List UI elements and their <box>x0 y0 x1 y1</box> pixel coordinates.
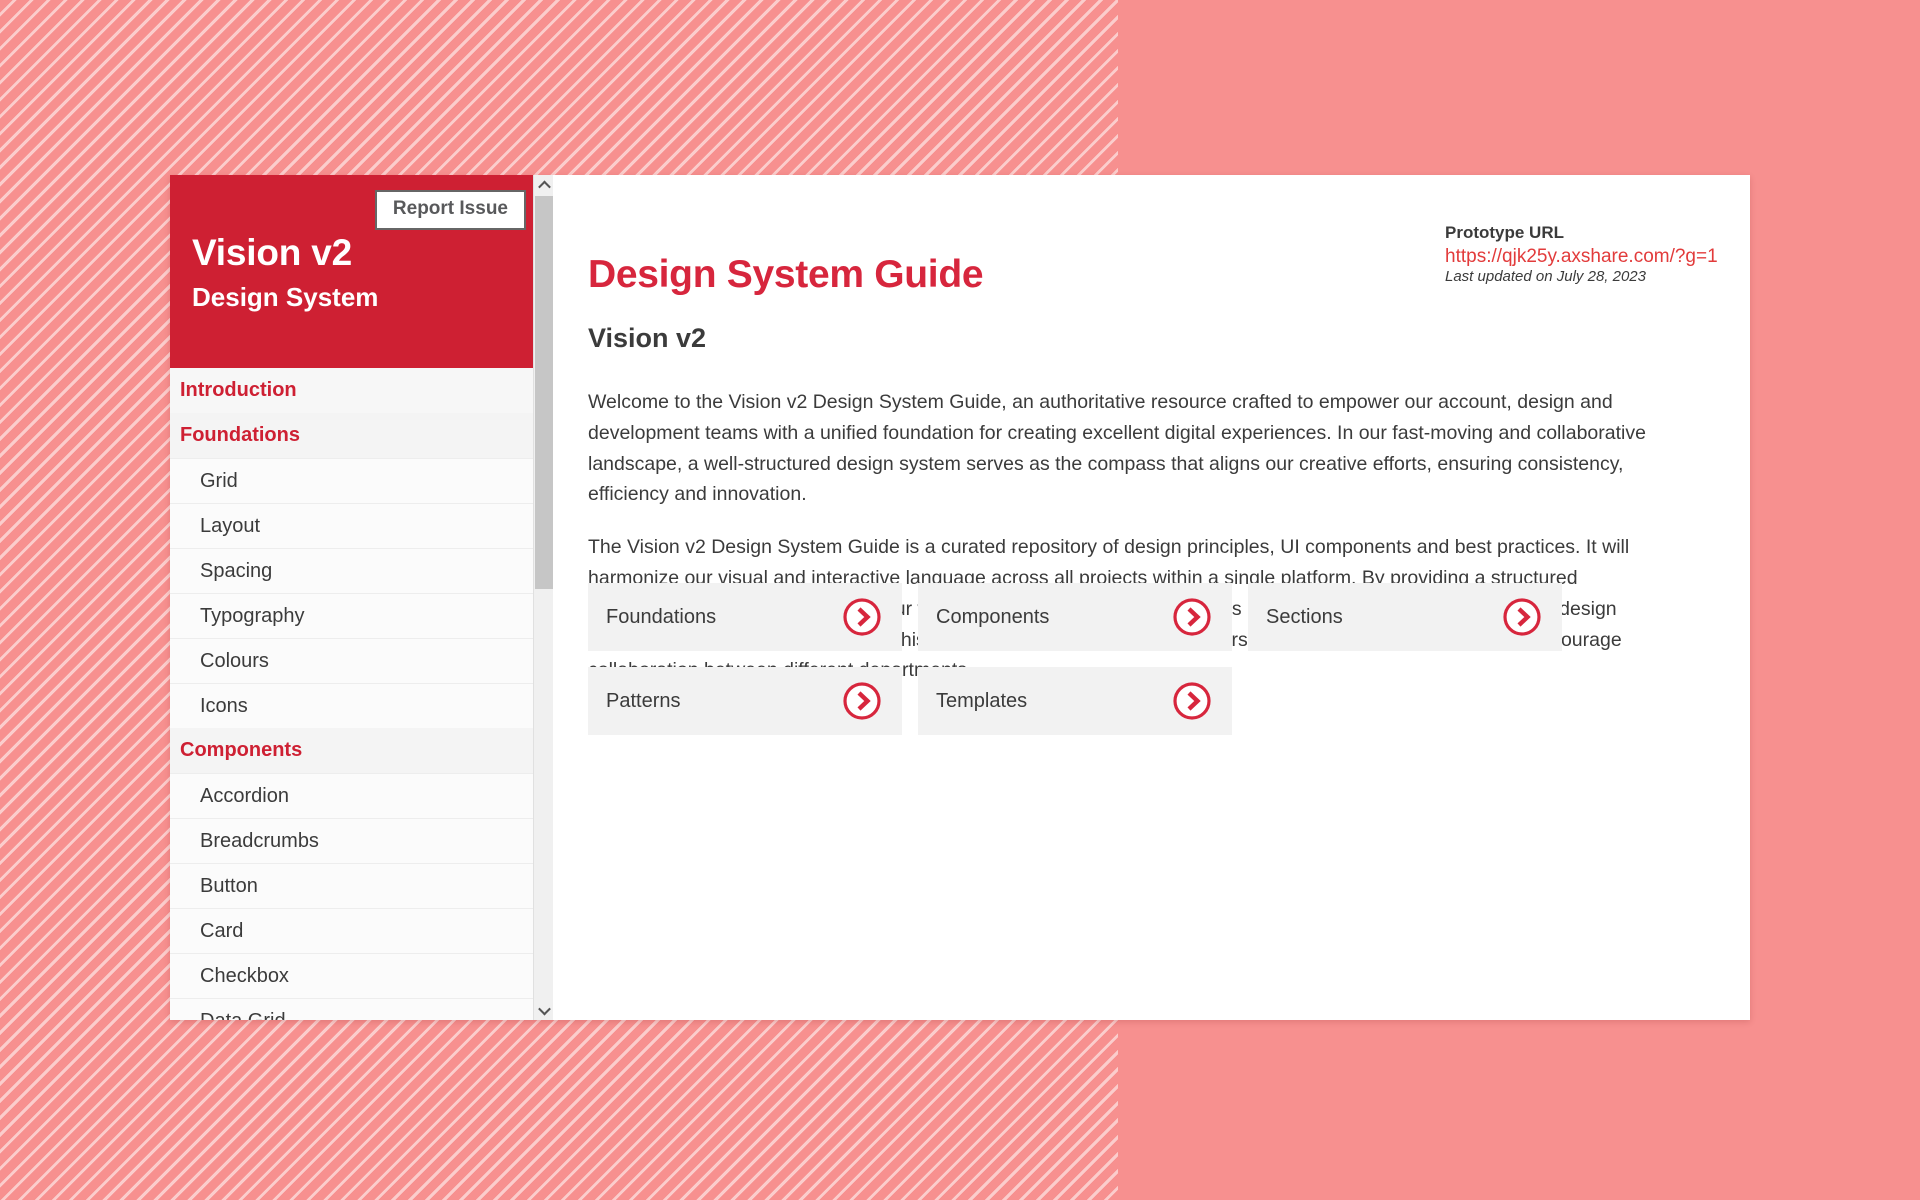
nav-card-label: Components <box>936 606 1049 629</box>
sidebar-item-colours[interactable]: Colours <box>170 638 553 683</box>
nav-card-label: Sections <box>1266 606 1343 629</box>
sidebar-nav-label: Button <box>200 875 258 898</box>
sidebar-nav-label: Icons <box>200 695 248 718</box>
sidebar-section-foundations[interactable]: Foundations <box>170 413 553 458</box>
nav-card-components[interactable]: Components <box>918 583 1232 651</box>
sidebar-item-accordion[interactable]: Accordion <box>170 773 553 818</box>
sidebar-nav-label: Data Grid <box>200 1010 286 1021</box>
sidebar-header: Report Issue Vision v2 Design System <box>170 175 553 368</box>
sidebar-nav-label: Typography <box>200 605 305 628</box>
scrollbar-thumb[interactable] <box>535 196 553 589</box>
arrow-right-circle-icon[interactable] <box>1172 597 1212 637</box>
report-issue-button[interactable]: Report Issue <box>375 190 526 230</box>
scroll-down-button[interactable] <box>534 1000 553 1020</box>
sidebar-nav-label: Components <box>180 739 302 762</box>
sidebar-section-components[interactable]: Components <box>170 728 553 773</box>
brand-title: Vision v2 <box>192 232 352 274</box>
page-subtitle: Vision v2 <box>588 323 706 354</box>
sidebar-item-breadcrumbs[interactable]: Breadcrumbs <box>170 818 553 863</box>
arrow-right-circle-icon[interactable] <box>1172 681 1212 721</box>
sidebar-nav-label: Layout <box>200 515 260 538</box>
sidebar-item-grid[interactable]: Grid <box>170 458 553 503</box>
nav-card-label: Foundations <box>606 606 716 629</box>
sidebar-nav-label: Colours <box>200 650 269 673</box>
sidebar-item-card[interactable]: Card <box>170 908 553 953</box>
nav-card-label: Templates <box>936 690 1027 713</box>
sidebar: Report Issue Vision v2 Design System Int… <box>170 175 553 1020</box>
sidebar-nav-label: Card <box>200 920 243 943</box>
arrow-right-circle-icon[interactable] <box>1502 597 1542 637</box>
chevron-up-icon <box>538 180 551 193</box>
sidebar-section-introduction[interactable]: Introduction <box>170 368 553 413</box>
sidebar-nav-label: Checkbox <box>200 965 289 988</box>
prototype-url-link[interactable]: https://qjk25y.axshare.com/?g=1 <box>1445 246 1718 267</box>
sidebar-item-button[interactable]: Button <box>170 863 553 908</box>
prototype-url-label: Prototype URL <box>1445 223 1715 243</box>
nav-card-sections[interactable]: Sections <box>1248 583 1562 651</box>
sidebar-item-data-grid[interactable]: Data Grid <box>170 998 553 1020</box>
arrow-right-circle-icon[interactable] <box>842 597 882 637</box>
main-content: Prototype URL https://qjk25y.axshare.com… <box>553 175 1750 1020</box>
nav-card-foundations[interactable]: Foundations <box>588 583 902 651</box>
nav-card-label: Patterns <box>606 690 680 713</box>
brand-subtitle: Design System <box>192 282 378 313</box>
arrow-right-circle-icon[interactable] <box>842 681 882 721</box>
sidebar-item-icons[interactable]: Icons <box>170 683 553 728</box>
body-paragraph: Welcome to the Vision v2 Design System G… <box>588 387 1658 510</box>
page-title: Design System Guide <box>588 253 983 297</box>
sidebar-nav-label: Grid <box>200 470 238 493</box>
sidebar-item-spacing[interactable]: Spacing <box>170 548 553 593</box>
sidebar-nav-label: Accordion <box>200 785 289 808</box>
sidebar-item-typography[interactable]: Typography <box>170 593 553 638</box>
sidebar-scrollbar[interactable] <box>533 175 553 1020</box>
sidebar-nav-label: Breadcrumbs <box>200 830 319 853</box>
chevron-down-icon <box>538 1002 551 1015</box>
sidebar-nav-label: Introduction <box>180 379 297 402</box>
nav-card-templates[interactable]: Templates <box>918 667 1232 735</box>
app-window: Report Issue Vision v2 Design System Int… <box>170 175 1750 1020</box>
sidebar-nav-label: Spacing <box>200 560 272 583</box>
prototype-info-block: Prototype URL https://qjk25y.axshare.com… <box>1445 223 1715 285</box>
card-grid: FoundationsComponentsSectionsPatternsTem… <box>588 583 1663 735</box>
sidebar-nav: IntroductionFoundationsGridLayoutSpacing… <box>170 368 553 1020</box>
scroll-up-button[interactable] <box>534 175 553 195</box>
nav-card-patterns[interactable]: Patterns <box>588 667 902 735</box>
last-updated-text: Last updated on July 28, 2023 <box>1445 268 1715 285</box>
sidebar-nav-label: Foundations <box>180 424 300 447</box>
sidebar-item-layout[interactable]: Layout <box>170 503 553 548</box>
sidebar-item-checkbox[interactable]: Checkbox <box>170 953 553 998</box>
